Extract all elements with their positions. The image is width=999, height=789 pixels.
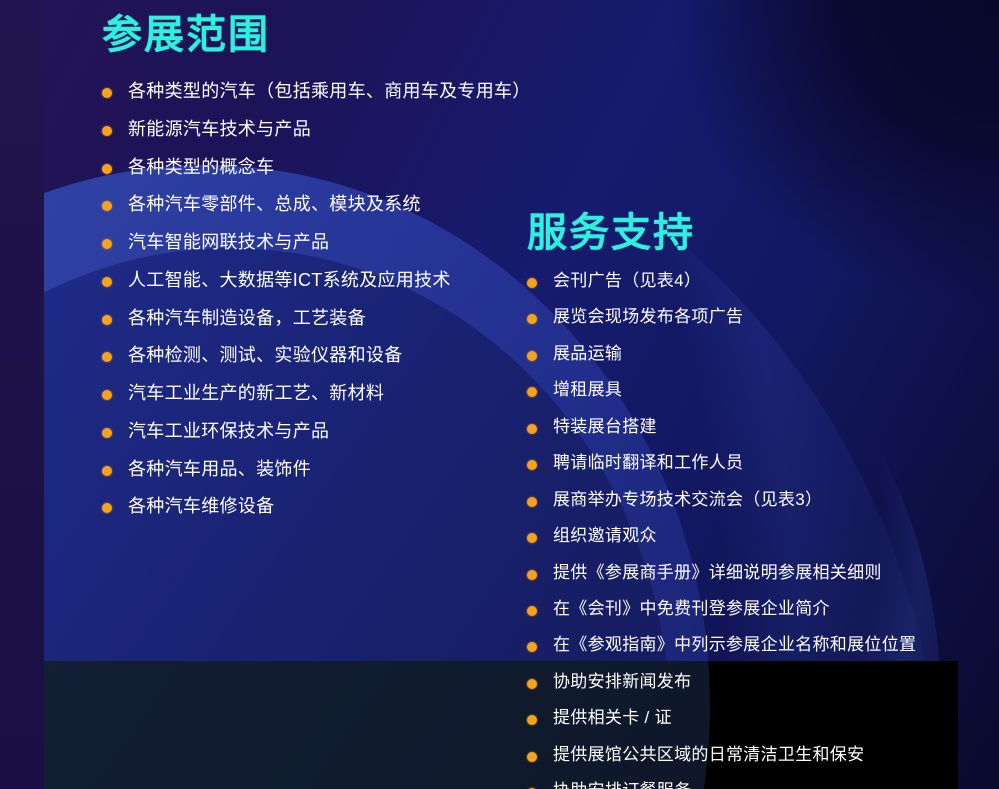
list-item: 协助安排新闻发布 [527, 671, 989, 693]
list-item: 在《参观指南》中列示参展企业名称和展位位置 [527, 634, 989, 656]
service-support-list: 会刊广告（见表4） 展览会现场发布各项广告 展品运输 增租展具 特装展台搭建 [527, 270, 989, 789]
exhibit-scope-list: 各种类型的汽车（包括乘用车、商用车及专用车） 新能源汽车技术与产品 各种类型的概… [102, 80, 572, 519]
bullet-dot-icon [102, 277, 112, 287]
exhibit-scope-section: 参展范围 各种类型的汽车（包括乘用车、商用车及专用车） 新能源汽车技术与产品 各… [102, 12, 572, 533]
bullet-dot-icon [527, 570, 537, 580]
list-item-label: 增租展具 [553, 379, 622, 401]
bullet-dot-icon [102, 88, 112, 98]
list-item: 提供相关卡 / 证 [527, 707, 989, 729]
list-item-label: 汽车工业生产的新工艺、新材料 [128, 382, 384, 406]
list-item: 提供展馆公共区域的日常清洁卫生和保安 [527, 744, 989, 766]
bullet-dot-icon [527, 679, 537, 689]
bullet-dot-icon [102, 390, 112, 400]
list-item-label: 汽车工业环保技术与产品 [128, 420, 329, 444]
bullet-dot-icon [527, 606, 537, 616]
list-item: 提供《参展商手册》详细说明参展相关细则 [527, 562, 989, 584]
list-item: 新能源汽车技术与产品 [102, 118, 572, 142]
list-item-label: 展商举办专场技术交流会（见表3） [553, 489, 822, 511]
list-item: 各种汽车制造设备，工艺装备 [102, 307, 572, 331]
bullet-dot-icon [527, 424, 537, 434]
bullet-dot-icon [527, 533, 537, 543]
bullet-dot-icon [527, 642, 537, 652]
list-item-label: 各种汽车制造设备，工艺装备 [128, 307, 366, 331]
bullet-dot-icon [102, 428, 112, 438]
list-item-label: 组织邀请观众 [553, 525, 657, 547]
list-item-label: 各种类型的汽车（包括乘用车、商用车及专用车） [128, 80, 531, 104]
presentation-slide: 参展范围 各种类型的汽车（包括乘用车、商用车及专用车） 新能源汽车技术与产品 各… [0, 0, 999, 789]
bullet-dot-icon [102, 315, 112, 325]
list-item-label: 会刊广告（见表4） [553, 270, 701, 292]
list-item-label: 各种检测、测试、实验仪器和设备 [128, 344, 403, 368]
list-item: 在《会刊》中免费刊登参展企业简介 [527, 598, 989, 620]
bullet-dot-icon [102, 239, 112, 249]
service-support-title: 服务支持 [527, 210, 989, 256]
list-item: 汽车工业环保技术与产品 [102, 420, 572, 444]
list-item: 各种检测、测试、实验仪器和设备 [102, 344, 572, 368]
list-item-label: 展览会现场发布各项广告 [553, 306, 743, 328]
list-item-label: 提供展馆公共区域的日常清洁卫生和保安 [553, 744, 864, 766]
bullet-dot-icon [527, 497, 537, 507]
list-item: 展品运输 [527, 343, 989, 365]
bullet-dot-icon [527, 460, 537, 470]
bullet-dot-icon [527, 715, 537, 725]
list-item-label: 新能源汽车技术与产品 [128, 118, 311, 142]
list-item: 展览会现场发布各项广告 [527, 306, 989, 328]
list-item-label: 提供相关卡 / 证 [553, 707, 672, 729]
list-item: 汽车工业生产的新工艺、新材料 [102, 382, 572, 406]
list-item: 各种类型的汽车（包括乘用车、商用车及专用车） [102, 80, 572, 104]
list-item: 各种汽车维修设备 [102, 495, 572, 519]
bullet-dot-icon [527, 351, 537, 361]
list-item-label: 聘请临时翻译和工作人员 [553, 452, 743, 474]
slide-content: 参展范围 各种类型的汽车（包括乘用车、商用车及专用车） 新能源汽车技术与产品 各… [0, 0, 999, 789]
list-item-label: 在《参观指南》中列示参展企业名称和展位位置 [553, 634, 916, 656]
bullet-dot-icon [102, 466, 112, 476]
list-item-label: 协助安排订餐服务 [553, 780, 691, 789]
exhibit-scope-title: 参展范围 [102, 12, 572, 58]
list-item-label: 各种汽车用品、装饰件 [128, 458, 311, 482]
bullet-dot-icon [102, 126, 112, 136]
list-item: 特装展台搭建 [527, 416, 989, 438]
bullet-dot-icon [527, 752, 537, 762]
bullet-dot-icon [102, 352, 112, 362]
list-item: 展商举办专场技术交流会（见表3） [527, 489, 989, 511]
list-item: 聘请临时翻译和工作人员 [527, 452, 989, 474]
list-item-label: 特装展台搭建 [553, 416, 657, 438]
list-item: 组织邀请观众 [527, 525, 989, 547]
list-item-label: 各种汽车维修设备 [128, 495, 274, 519]
list-item: 人工智能、大数据等ICT系统及应用技术 [102, 269, 572, 293]
list-item: 汽车智能网联技术与产品 [102, 231, 572, 255]
bullet-dot-icon [102, 164, 112, 174]
list-item: 各种汽车用品、装饰件 [102, 458, 572, 482]
list-item: 会刊广告（见表4） [527, 270, 989, 292]
bullet-dot-icon [527, 314, 537, 324]
service-support-section: 服务支持 会刊广告（见表4） 展览会现场发布各项广告 展品运输 增租展具 [527, 210, 989, 789]
list-item-label: 提供《参展商手册》详细说明参展相关细则 [553, 562, 882, 584]
list-item-label: 在《会刊》中免费刊登参展企业简介 [553, 598, 830, 620]
list-item-label: 各种类型的概念车 [128, 156, 274, 180]
bullet-dot-icon [102, 503, 112, 513]
bullet-dot-icon [102, 201, 112, 211]
list-item-label: 展品运输 [553, 343, 622, 365]
list-item-label: 协助安排新闻发布 [553, 671, 691, 693]
list-item-label: 人工智能、大数据等ICT系统及应用技术 [128, 269, 451, 293]
bullet-dot-icon [527, 278, 537, 288]
list-item-label: 汽车智能网联技术与产品 [128, 231, 329, 255]
list-item: 协助安排订餐服务 [527, 780, 989, 789]
list-item: 增租展具 [527, 379, 989, 401]
list-item: 各种汽车零部件、总成、模块及系统 [102, 193, 572, 217]
bullet-dot-icon [527, 387, 537, 397]
list-item-label: 各种汽车零部件、总成、模块及系统 [128, 193, 421, 217]
list-item: 各种类型的概念车 [102, 156, 572, 180]
